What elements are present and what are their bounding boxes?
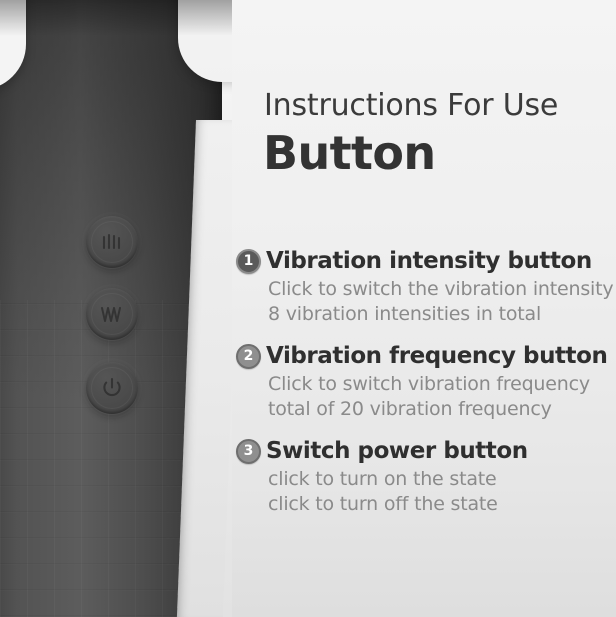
instruction-body: Click to switch the vibration intensity …: [232, 277, 616, 327]
instruction-line: Click to switch vibration frequency: [268, 372, 616, 397]
instruction-heading: 2 Vibration frequency button: [232, 343, 616, 369]
page-title: Button: [263, 126, 436, 180]
instruction-title: Vibration frequency button: [266, 343, 607, 369]
page-kicker: Instructions For Use: [264, 88, 558, 123]
instruction-body: click to turn on the state click to turn…: [232, 467, 616, 517]
device-power-button[interactable]: [86, 362, 138, 414]
step-number-badge: 3: [236, 439, 261, 464]
instruction-line: click to turn off the state: [268, 492, 616, 517]
list-item: 2 Vibration frequency button Click to sw…: [232, 343, 616, 422]
intensity-bars-icon: [86, 216, 138, 268]
instructions-panel: Instructions For Use Button 1 Vibration …: [232, 0, 616, 617]
instruction-line: 8 vibration intensities in total: [268, 302, 616, 327]
instruction-title: Vibration intensity button: [266, 248, 592, 274]
list-item: 3 Switch power button click to turn on t…: [232, 438, 616, 517]
instruction-heading: 1 Vibration intensity button: [232, 248, 616, 274]
instruction-line: click to turn on the state: [268, 467, 616, 492]
instruction-card: Instructions For Use Button 1 Vibration …: [0, 0, 616, 617]
wave-icon: [86, 288, 138, 340]
list-item: 1 Vibration intensity button Click to sw…: [232, 248, 616, 327]
device-vibration-intensity-button[interactable]: [86, 216, 138, 268]
step-number-badge: 1: [236, 249, 261, 274]
instruction-body: Click to switch vibration frequency tota…: [232, 372, 616, 422]
instruction-line: total of 20 vibration frequency: [268, 397, 616, 422]
device-vibration-frequency-button[interactable]: [86, 288, 138, 340]
power-icon: [86, 362, 138, 414]
instruction-heading: 3 Switch power button: [232, 438, 616, 464]
instruction-title: Switch power button: [266, 438, 528, 464]
product-photo: [0, 0, 232, 617]
step-number-badge: 2: [236, 344, 261, 369]
instruction-line: Click to switch the vibration intensity: [268, 277, 616, 302]
instruction-list: 1 Vibration intensity button Click to sw…: [232, 248, 616, 533]
